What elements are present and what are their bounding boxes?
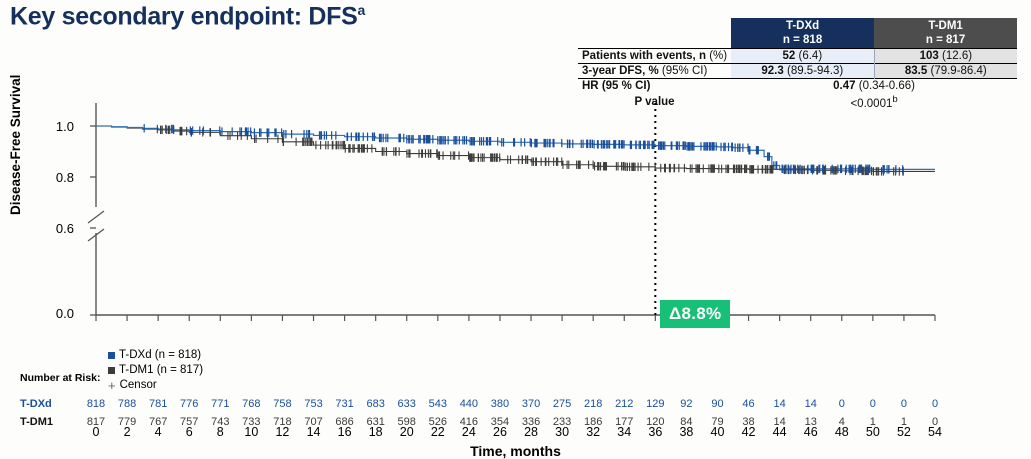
row-label-dfs-bold: 3-year DFS, % [582, 65, 659, 77]
y-axis-break-mark-top [88, 211, 104, 223]
legend-plus-icon: + [108, 381, 116, 390]
summary-header-tdm1-name: T-DM1 [878, 19, 1013, 33]
cell-events-tdm1-pct: (12.6) [942, 50, 972, 62]
number-at-risk-value: 0 [922, 398, 948, 410]
number-at-risk-value: 84 [673, 416, 699, 428]
number-at-risk-value: 1 [860, 416, 886, 428]
row-label-dfs-light: (95% CI) [662, 65, 707, 77]
number-at-risk-value: 718 [269, 416, 295, 428]
page-title-superscript: a [358, 2, 366, 18]
number-at-risk-value: 218 [580, 398, 606, 410]
number-at-risk-value: 731 [332, 398, 358, 410]
legend-swatch-tdm1-icon [108, 367, 115, 374]
summary-header-tdm1: T-DM1 n = 817 [874, 18, 1017, 49]
legend-item-censor: + Censor [108, 378, 203, 393]
cell-events-tdxd: 52 (6.4) [731, 49, 874, 64]
summary-table-header-row: T-DXd n = 818 T-DM1 n = 817 [578, 18, 1017, 49]
summary-header-tdxd-n: n = 818 [735, 33, 870, 47]
number-at-risk-value: 275 [549, 398, 575, 410]
number-at-risk-value: 416 [456, 416, 482, 428]
number-at-risk-value: 79 [704, 416, 730, 428]
row-label-hr-light: (95 % CI) [602, 80, 651, 92]
number-at-risk-value: 779 [114, 416, 140, 428]
plot-canvas [0, 95, 1031, 345]
legend-item-tdxd: T-DXd (n = 818) [108, 348, 203, 363]
number-at-risk-value: 686 [332, 416, 358, 428]
number-at-risk-value: 683 [363, 398, 389, 410]
cell-hr-value: 0.47 (0.34-0.66) [731, 79, 1017, 94]
cell-events-tdxd-pct: (6.4) [799, 50, 823, 62]
number-at-risk-value: 543 [425, 398, 451, 410]
number-at-risk-value: 633 [394, 398, 420, 410]
number-at-risk-value: 233 [549, 416, 575, 428]
number-at-risk-value: 440 [456, 398, 482, 410]
page-title-text: Key secondary endpoint: DFS [10, 2, 358, 30]
cell-dfs-tdm1: 83.5 (79.9-86.4) [874, 64, 1017, 79]
number-at-risk-value: 336 [518, 416, 544, 428]
number-at-risk-title: Number at Risk: [20, 372, 101, 384]
number-at-risk-value: 46 [736, 398, 762, 410]
number-at-risk-value: 14 [767, 416, 793, 428]
y-tick-1-0: 1.0 [40, 119, 74, 134]
number-at-risk-value: 177 [611, 416, 637, 428]
table-row: Patients with events, n (%) 52 (6.4) 103… [578, 49, 1017, 64]
cell-dfs-tdxd-value: 92.3 [761, 65, 783, 77]
legend-swatch-tdxd-icon [108, 352, 115, 359]
number-at-risk-value: 14 [798, 398, 824, 410]
row-label-events-bold: Patients with events, n [582, 50, 706, 62]
number-at-risk-value: 817 [83, 416, 109, 428]
cell-events-tdm1: 103 (12.6) [874, 49, 1017, 64]
number-at-risk-value: 212 [611, 398, 637, 410]
table-row: HR (95 % CI) 0.47 (0.34-0.66) [578, 79, 1017, 94]
number-at-risk-value: 90 [704, 398, 730, 410]
legend-label-tdxd: T-DXd (n = 818) [119, 348, 201, 363]
cell-dfs-tdxd: 92.3 (89.5-94.3) [731, 64, 874, 79]
number-at-risk-label-tdxd: T-DXd [20, 398, 52, 410]
kaplan-meier-chart: Disease-Free Survival 1.0 0.8 0.6 0.0 [0, 95, 1031, 375]
cell-dfs-tdm1-ci: (79.9-86.4) [930, 65, 986, 77]
summary-header-tdxd: T-DXd n = 818 [731, 18, 874, 49]
row-label-hr-bold: HR [582, 80, 599, 92]
number-at-risk-value: 768 [238, 398, 264, 410]
number-at-risk-value: 758 [269, 398, 295, 410]
cell-dfs-tdxd-ci: (89.5-94.3) [787, 65, 843, 77]
number-at-risk-value: 776 [176, 398, 202, 410]
table-row: 3-year DFS, % (95% CI) 92.3 (89.5-94.3) … [578, 64, 1017, 79]
x-axis-title: Time, months [0, 443, 1031, 459]
number-at-risk-value: 781 [145, 398, 171, 410]
number-at-risk-value: 707 [301, 416, 327, 428]
number-at-risk-value: 129 [642, 398, 668, 410]
number-at-risk-value: 370 [518, 398, 544, 410]
number-at-risk-value: 743 [207, 416, 233, 428]
y-axis-title: Disease-Free Survival [8, 75, 23, 215]
number-at-risk-value: 598 [394, 416, 420, 428]
number-at-risk-value: 767 [145, 416, 171, 428]
cell-dfs-tdm1-value: 83.5 [905, 65, 927, 77]
legend-label-tdm1: T-DM1 (n = 817) [119, 363, 203, 378]
number-at-risk-value: 4 [829, 416, 855, 428]
number-at-risk-value: 380 [487, 398, 513, 410]
delta-annotation-badge: Δ8.8% [660, 300, 730, 328]
summary-header-tdm1-n: n = 817 [878, 33, 1013, 47]
cell-hr-point-estimate: 0.47 [833, 80, 855, 92]
x-tick-marks [96, 315, 935, 321]
summary-header-tdxd-name: T-DXd [735, 19, 870, 33]
number-at-risk-value: 753 [301, 398, 327, 410]
number-at-risk-value: 92 [673, 398, 699, 410]
number-at-risk-value: 0 [829, 398, 855, 410]
number-at-risk-value: 631 [363, 416, 389, 428]
cell-hr-ci: (0.34-0.66) [859, 80, 915, 92]
number-at-risk-value: 186 [580, 416, 606, 428]
number-at-risk-value: 733 [238, 416, 264, 428]
number-at-risk-value: 771 [207, 398, 233, 410]
cell-events-tdm1-value: 103 [920, 50, 939, 62]
legend-item-tdm1: T-DM1 (n = 817) [108, 363, 203, 378]
page-title: Key secondary endpoint: DFSa [10, 2, 365, 31]
number-at-risk-value: 354 [487, 416, 513, 428]
row-label-events: Patients with events, n (%) [578, 49, 731, 64]
number-at-risk-value: 1 [891, 416, 917, 428]
row-label-dfs: 3-year DFS, % (95% CI) [578, 64, 731, 79]
row-label-hr: HR (95 % CI) [578, 79, 731, 94]
cell-events-tdxd-value: 52 [783, 50, 796, 62]
number-at-risk-value: 0 [891, 398, 917, 410]
number-at-risk-value: 38 [736, 416, 762, 428]
row-label-events-light: (%) [709, 50, 727, 62]
summary-header-spacer [578, 18, 731, 49]
number-at-risk-value: 757 [176, 416, 202, 428]
legend-label-censor: Censor [120, 378, 157, 393]
number-at-risk-value: 0 [860, 398, 886, 410]
chart-legend: T-DXd (n = 818) T-DM1 (n = 817) + Censor [108, 348, 203, 393]
number-at-risk-value: 13 [798, 416, 824, 428]
number-at-risk-label-tdm1: T-DM1 [20, 416, 53, 428]
y-tick-0-0: 0.0 [40, 306, 74, 321]
censor-marks-tdxd [144, 124, 902, 173]
number-at-risk-value: 120 [642, 416, 668, 428]
number-at-risk-value: 526 [425, 416, 451, 428]
y-tick-0-8: 0.8 [40, 170, 74, 185]
number-at-risk-value: 14 [767, 398, 793, 410]
y-tick-0-6: 0.6 [40, 221, 74, 236]
number-at-risk-value: 0 [922, 416, 948, 428]
number-at-risk-value: 818 [83, 398, 109, 410]
number-at-risk-value: 788 [114, 398, 140, 410]
